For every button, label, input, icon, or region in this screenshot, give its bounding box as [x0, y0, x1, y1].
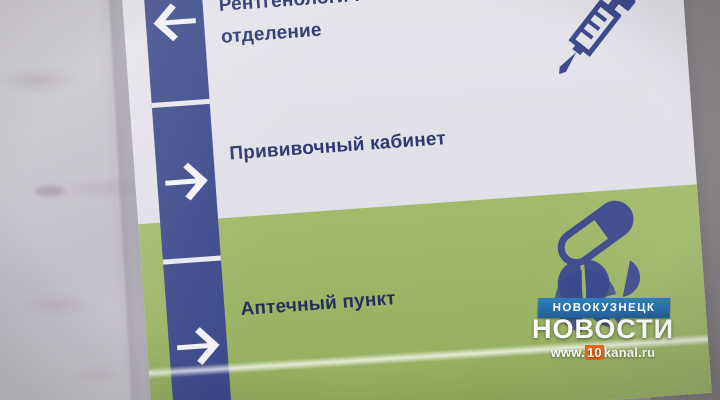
bug-url-prefix: www. [551, 345, 585, 360]
arrow-right-icon [174, 324, 223, 367]
bug-url-suffix: kanal.ru [604, 345, 655, 360]
broadcaster-bug: НОВОКУЗНЕЦК НОВОСТИ www.10kanal.ru [528, 272, 676, 368]
sign-row-arrow-pharmacy [163, 260, 233, 400]
sign-row-arrow-xray [140, 0, 209, 103]
syringe-icon [542, 0, 642, 95]
bug-url-highlight: 10 [585, 345, 604, 360]
bug-title: НОВОСТИ [532, 316, 674, 343]
bug-url: www.10kanal.ru [532, 346, 674, 359]
arrow-left-icon [151, 1, 200, 44]
video-frame: Рентгенологич отделение Прививочный каби… [0, 0, 720, 400]
arrow-right-icon [162, 160, 211, 203]
bug-city-label: НОВОКУЗНЕЦК [552, 302, 655, 314]
sign-row-arrow-vaccination [152, 104, 221, 260]
